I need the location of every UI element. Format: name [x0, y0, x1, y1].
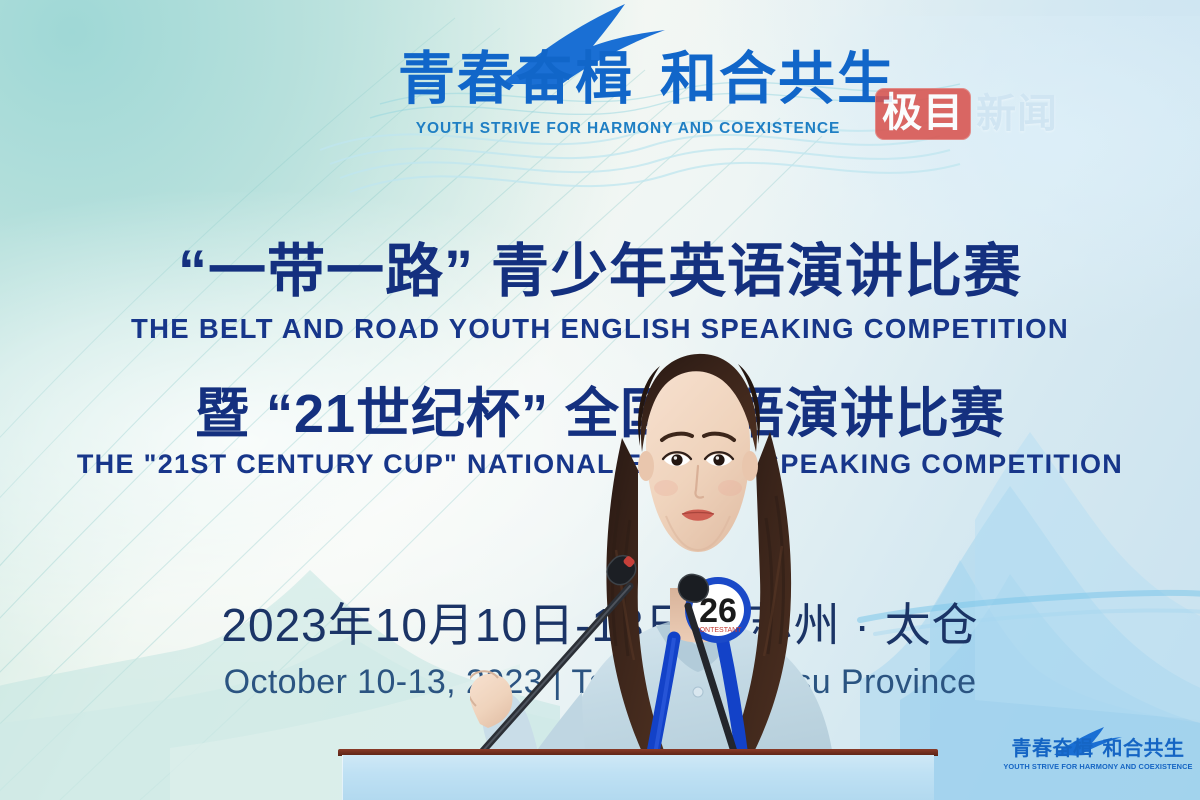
- podium-front-panel: [342, 755, 934, 800]
- watermark-tail-text: 新闻: [976, 91, 1058, 137]
- backdrop-slogan: 青春奋楫和合共生 YOUTH STRIVE FOR HARMONY AND CO…: [398, 44, 858, 152]
- jimu-news-watermark: 极目 新闻: [875, 86, 1058, 142]
- primary-title-cn: “一带一路” 青少年英语演讲比赛: [0, 237, 1200, 307]
- corner-logo-cn: 青春奋楫和合共生: [1003, 737, 1193, 761]
- screenshot-root: 青春奋楫和合共生 YOUTH STRIVE FOR HARMONY AND CO…: [0, 0, 1200, 800]
- watermark-boxed-text: 极目: [882, 90, 964, 136]
- corner-slogan-logo: 青春奋楫和合共生 YOUTH STRIVE FOR HARMONY AND CO…: [1003, 737, 1193, 781]
- slogan-en-text: YOUTH STRIVE FOR HARMONY AND COEXISTENCE: [398, 120, 858, 138]
- slogan-cn-text: 青春奋楫和合共生: [398, 48, 858, 110]
- watermark-red-box: 极目: [875, 88, 971, 140]
- speaking-podium: [338, 749, 938, 800]
- corner-logo-en: YOUTH STRIVE FOR HARMONY AND COEXISTENCE: [1003, 762, 1193, 772]
